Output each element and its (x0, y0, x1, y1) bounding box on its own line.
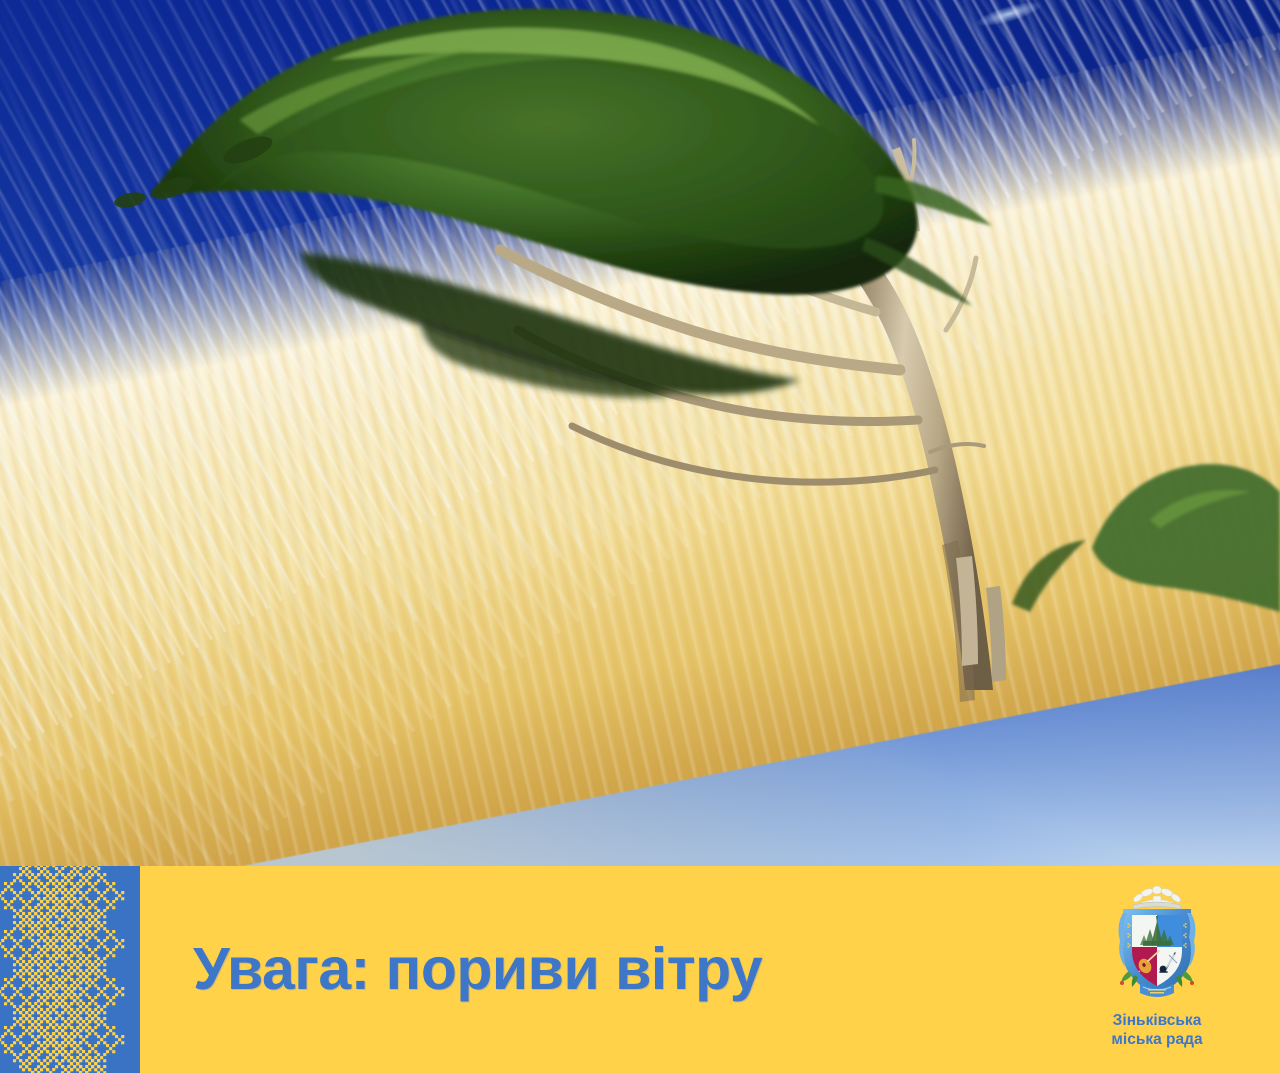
background-photo (0, 0, 1280, 866)
tree-canopy (150, 8, 992, 306)
vyshyvanka-pattern-strip (0, 866, 140, 1073)
logo-caption: Зіньківська міська рада (1111, 1012, 1202, 1050)
logo-caption-line2: міська рада (1111, 1031, 1202, 1050)
headline-area: Увага: пориви вітру (140, 866, 1052, 1073)
organization-logo: Зіньківська міська рада (1052, 866, 1280, 1073)
branding-banner: Увага: пориви вітру (0, 866, 1280, 1073)
ridge-shrubs (1012, 464, 1280, 612)
weather-warning-poster: Увага: пориви вітру (0, 0, 1280, 1073)
page-title: Увага: пориви вітру (193, 940, 762, 999)
logo-caption-line1: Зіньківська (1111, 1012, 1202, 1031)
coat-of-arms-icon (1107, 883, 1207, 1007)
windswept-tree (0, 0, 1280, 866)
cross-stitch-icon (0, 866, 140, 1073)
crest-crown (1132, 886, 1182, 904)
